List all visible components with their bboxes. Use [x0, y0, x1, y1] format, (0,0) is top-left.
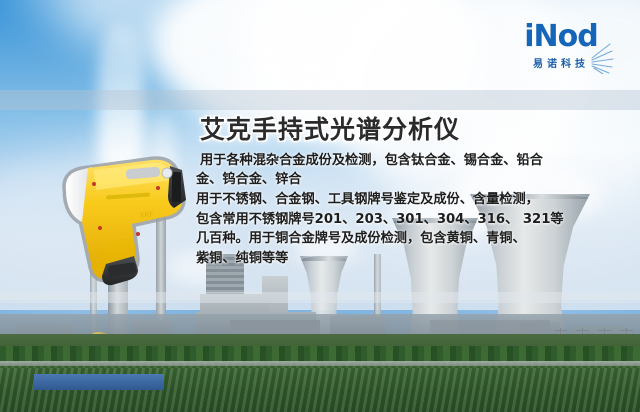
feature-line: 用于不锈钢、合金钢、工具钢牌号鉴定及成份、含量检测， [196, 191, 628, 210]
handheld-xrf-analyzer-image: XRF [48, 152, 198, 312]
treeline [0, 346, 640, 362]
page-title: 艾克手持式光谱分析仪 [200, 116, 628, 144]
feature-line: 金、钨合金、锌合 [196, 171, 628, 190]
svg-text:XRF: XRF [139, 211, 153, 220]
hero-copy: 艾克手持式光谱分析仪 用于各种混杂合金成份及检测，包含钛合金、锡合金、铅合 金、… [196, 116, 628, 270]
product-banner: XRF iNod 易诺科技 艾克手持式光谱分析仪 用于各种混杂合金成份及检测，包… [0, 0, 640, 412]
blue-roof-building [34, 374, 164, 390]
road [0, 361, 640, 366]
overlay-band-top [0, 90, 640, 110]
feature-line: 几百种。用于铜合金牌号及成份检测，包含黄铜、青铜、 [196, 230, 628, 249]
feature-line: 包含常用不锈钢牌号201、203、301、304、316、 321等 [196, 211, 628, 230]
feature-line: 紫铜、纯铜等等 [196, 250, 628, 269]
sun-rays-icon [588, 38, 628, 74]
brand-logo[interactable]: iNod 易诺科技 [498, 22, 624, 76]
feature-line: 用于各种混杂合金成份及检测，包含钛合金、锡合金、铅合 [200, 152, 628, 171]
